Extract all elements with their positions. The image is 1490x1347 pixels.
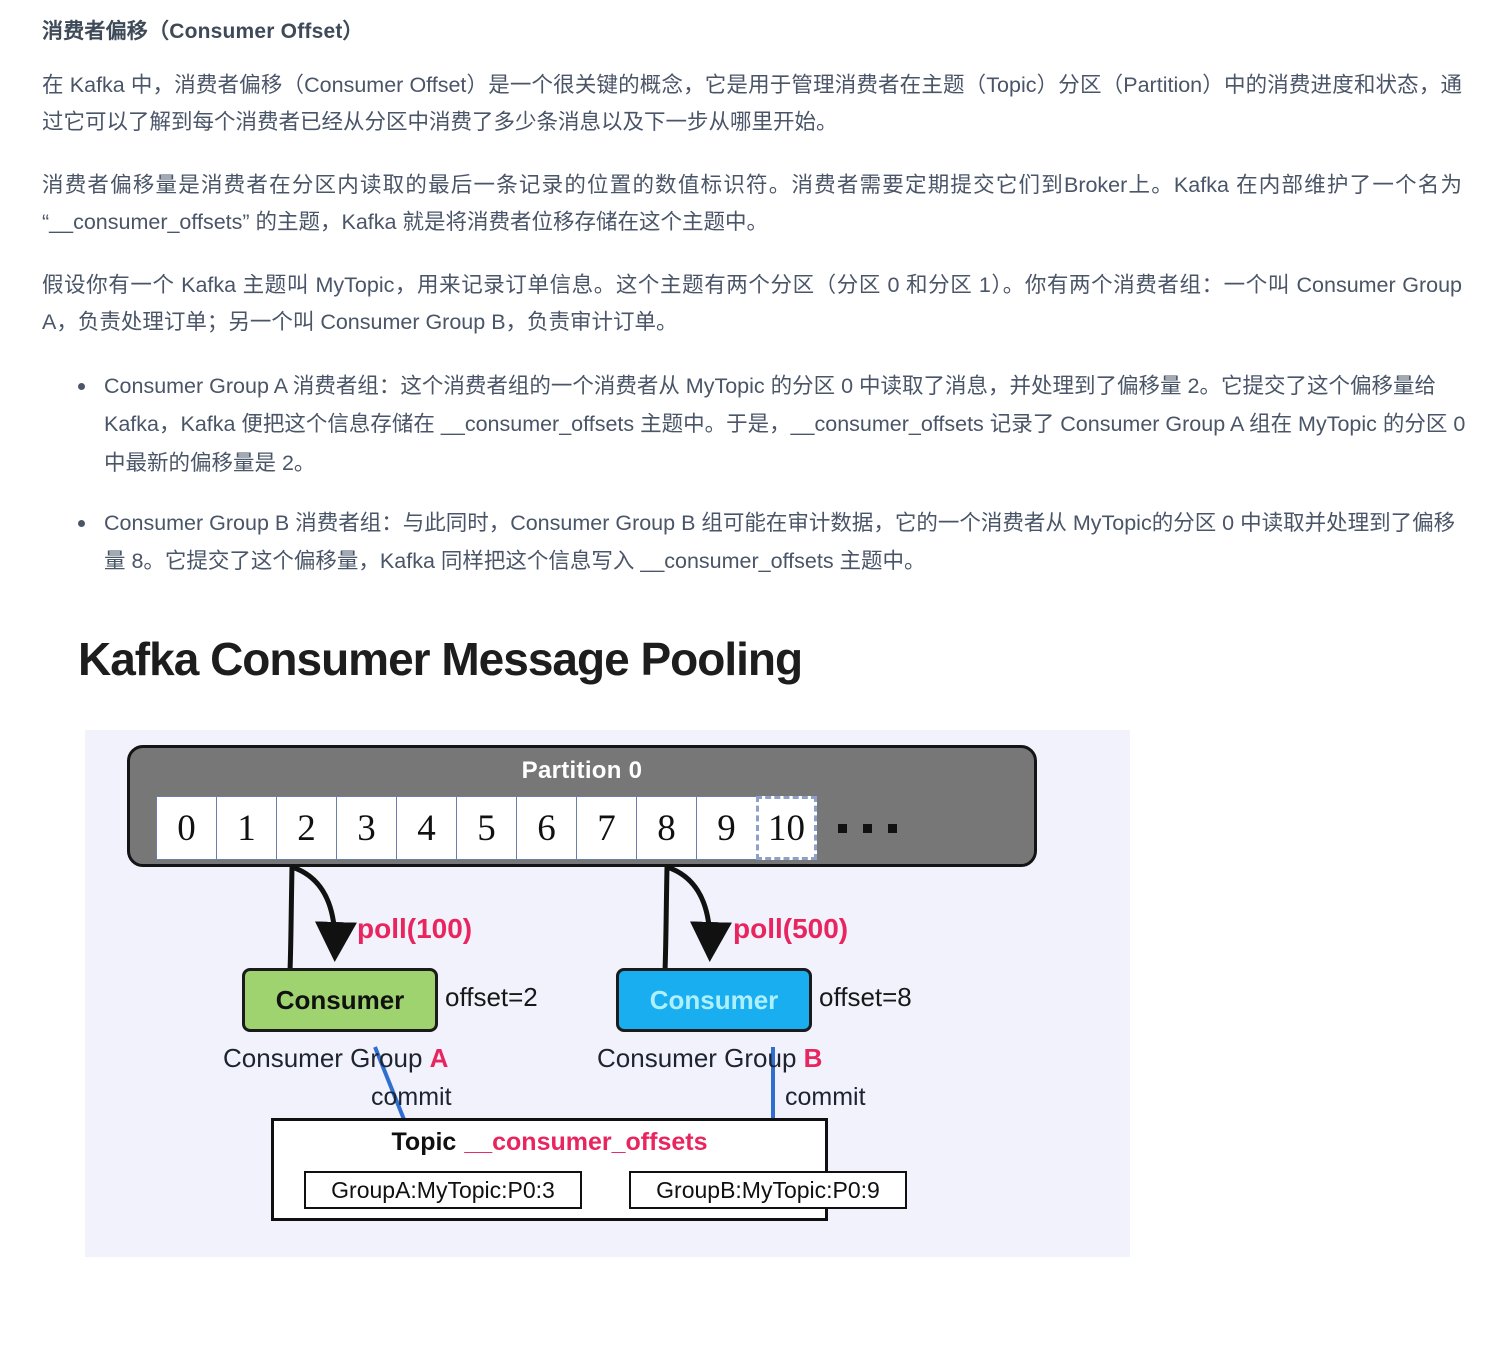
consumer-group-a-label: Consumer Group A	[223, 1043, 448, 1074]
commit-label-a: commit	[371, 1083, 452, 1112]
paragraph-2: 消费者偏移量是消费者在分区内读取的最后一条记录的位置的数值标识符。消费者需要定期…	[42, 167, 1462, 241]
partition-cell: 4	[396, 796, 457, 860]
offset-label-a: offset=2	[445, 982, 538, 1013]
poll-arrow-b-stem	[665, 867, 667, 971]
poll-label-b: poll(500)	[733, 913, 848, 945]
figure-kafka-consumer-pooling: Kafka Consumer Message Pooling Partition…	[0, 636, 1490, 1257]
page-root: 消费者偏移（Consumer Offset） 在 Kafka 中，消费者偏移（C…	[0, 0, 1490, 1347]
partition-cell: 6	[516, 796, 577, 860]
partition-container: Partition 0 0 1 2 3 4 5 6 7 8 9 10	[127, 745, 1037, 867]
topic-word: Topic	[392, 1128, 457, 1156]
commit-label-b: commit	[785, 1083, 866, 1112]
poll-arrow-b	[667, 867, 710, 952]
partition-cell: 2	[276, 796, 337, 860]
article-body: 消费者偏移（Consumer Offset） 在 Kafka 中，消费者偏移（C…	[0, 0, 1490, 580]
offset-label-b: offset=8	[819, 982, 912, 1013]
bullet-list: Consumer Group A 消费者组：这个消费者组的一个消费者从 MyTo…	[42, 367, 1468, 580]
partition-cell: 1	[216, 796, 277, 860]
page-title: 消费者偏移（Consumer Offset）	[42, 18, 1468, 45]
partition-cell: 9	[696, 796, 757, 860]
consumer-box-b-label: Consumer	[650, 985, 779, 1016]
consumer-box-a-label: Consumer	[276, 985, 405, 1016]
offset-record-a: GroupA:MyTopic:P0:3	[304, 1171, 582, 1209]
list-item: Consumer Group B 消费者组：与此同时，Consumer Grou…	[88, 504, 1468, 581]
poll-label-a: poll(100)	[357, 913, 472, 945]
list-item: Consumer Group A 消费者组：这个消费者组的一个消费者从 MyTo…	[88, 367, 1468, 482]
group-a-letter: A	[430, 1043, 449, 1073]
offset-record-b: GroupB:MyTopic:P0:9	[629, 1171, 907, 1209]
partition-cell: 3	[336, 796, 397, 860]
consumer-box-b: Consumer	[616, 968, 812, 1032]
topic-name: __consumer_offsets	[464, 1128, 707, 1156]
partition-cell-pending: 10	[756, 796, 817, 860]
figure-title: Kafka Consumer Message Pooling	[78, 636, 1490, 682]
group-a-prefix: Consumer Group	[223, 1043, 430, 1073]
paragraph-3: 假设你有一个 Kafka 主题叫 MyTopic，用来记录订单信息。这个主题有两…	[42, 267, 1462, 341]
poll-arrow-a	[292, 867, 335, 952]
partition-cell: 5	[456, 796, 517, 860]
topic-heading: Topic__consumer_offsets	[274, 1128, 825, 1157]
partition-cell: 8	[636, 796, 697, 860]
topic-offsets-box: Topic__consumer_offsets GroupA:MyTopic:P…	[271, 1118, 828, 1221]
partition-cells: 0 1 2 3 4 5 6 7 8 9 10	[156, 796, 897, 860]
partition-cell: 7	[576, 796, 637, 860]
poll-arrow-a-stem	[290, 867, 292, 971]
partition-cell: 0	[156, 796, 217, 860]
consumer-box-a: Consumer	[242, 968, 438, 1032]
partition-label: Partition 0	[130, 757, 1034, 785]
paragraph-1: 在 Kafka 中，消费者偏移（Consumer Offset）是一个很关键的概…	[42, 67, 1462, 141]
group-b-prefix: Consumer Group	[597, 1043, 804, 1073]
consumer-group-b-label: Consumer Group B	[597, 1043, 822, 1074]
diagram-canvas: Partition 0 0 1 2 3 4 5 6 7 8 9 10	[85, 730, 1130, 1257]
group-b-letter: B	[804, 1043, 823, 1073]
ellipsis-icon	[838, 824, 897, 833]
